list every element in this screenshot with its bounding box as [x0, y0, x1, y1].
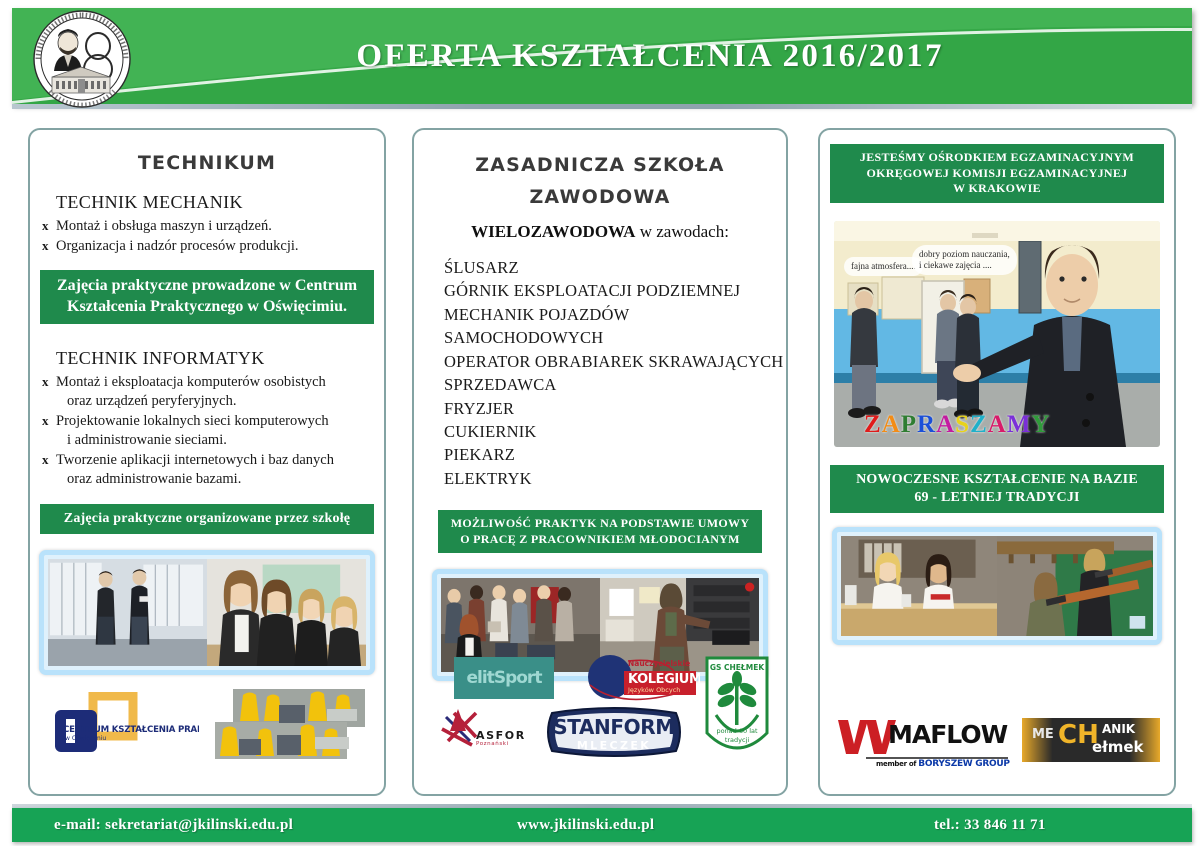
zapraszamy-letter: Y [1031, 411, 1050, 438]
technik-mechanik-bullets: x Montaż i obsługa maszyn i urządzeń. x … [30, 217, 384, 256]
callout-praktyki-line2: O PRACĘ Z PRACOWNIKIEM MŁODOCIANYM [446, 532, 754, 548]
mechanik-chelmek-logo: ME CH ANIK ełmek [1022, 718, 1160, 762]
ckp-logo-subtext: w Oświęcimiu [65, 735, 106, 742]
list-item: SPRZEDAWCA [444, 373, 786, 396]
list-item: x Tworzenie aplikacji internetowych i ba… [30, 451, 384, 489]
photo-shooting-range [997, 536, 1153, 636]
program-technik-mechanik-name: TECHNIK MECHANIK [56, 192, 384, 213]
zsz-subtitle-rest: w zawodach: [635, 222, 728, 241]
list-item: CUKIERNIK [444, 420, 786, 443]
maflow-logo-text: MAFLOW [888, 720, 1007, 749]
list-item: FRYZJER [444, 397, 786, 420]
header-underline [12, 104, 1192, 109]
list-item: PIEKARZ [444, 443, 786, 466]
ckp-logo: CENTRUM KSZTAŁCENIA PRAKTYCZNEGO w Oświę… [49, 692, 199, 756]
bullet-text-cont: oraz urządzeń peryferyjnych. [56, 392, 384, 411]
kolegium-logo-top: Nauczycielskie [628, 659, 690, 668]
callout-praktyki: MOŻLIWOŚĆ PRAKTYK NA PODSTAWIE UMOWY O P… [438, 510, 762, 553]
stanform-logo-sub: MLECZEK [540, 739, 688, 752]
x-marker-icon: x [42, 237, 49, 254]
poster-root: OFERTA KSZTAŁCENIA 2016/2017 [0, 0, 1202, 846]
zapraszamy-letter: S [955, 411, 970, 438]
stanform-logo-text: STANFORM [540, 715, 688, 739]
callout-praktyki-line1: MOŻLIWOŚĆ PRAKTYK NA PODSTAWIE UMOWY [446, 516, 754, 532]
technik-informatyk-bullets: x Montaż i eksploatacja komputerów osobi… [30, 373, 384, 490]
gs-chelmek-logo: GS CHEŁMEK ponad 60 lat tradycji [704, 655, 770, 767]
maflow-logo-sub: member of BORYSZEW GROUP [876, 759, 1010, 769]
elitsport-logo: elitSport [454, 657, 554, 699]
banner-line3: W KRAKOWIE [838, 181, 1156, 197]
footer-phone: tel.: 33 846 11 71 [934, 817, 1046, 834]
list-item: OPERATOR OBRABIAREK SKRAWAJĄCYCH [444, 350, 786, 373]
list-item: x Projektowanie lokalnych sieci komputer… [30, 412, 384, 450]
zsz-subtitle-strong: WIELOZAWODOWA [471, 222, 635, 241]
banner-osrodek-egzaminacyjny: JESTEŚMY OŚRODKIEM EGZAMINACYJNYM OKRĘGO… [830, 144, 1164, 203]
photo-corridor [48, 559, 207, 666]
gs-chelmek-logo-top: GS CHEŁMEK [704, 663, 770, 672]
zapraszamy-letter: R [917, 411, 936, 438]
x-marker-icon: x [42, 373, 49, 390]
page-footer: e-mail: sekretariat@jkilinski.edu.pl www… [12, 808, 1192, 842]
footer-email[interactable]: e-mail: sekretariat@jkilinski.edu.pl [54, 817, 293, 834]
technikum-heading: TECHNIKUM [30, 152, 384, 174]
zsz-heading-line1: ZASADNICZA SZKOŁA [414, 154, 786, 176]
mechanik-part3: ANIK [1102, 722, 1135, 736]
gs-chelmek-logo-sub2: tradycji [704, 736, 770, 744]
x-marker-icon: x [42, 412, 49, 429]
list-item: ŚLUSARZ [444, 256, 786, 279]
callout-ckp-line1: Zajęcia praktyczne prowadzone w Centrum [48, 276, 366, 297]
banner-line1: JESTEŚMY OŚRODKIEM EGZAMINACYJNYM [838, 150, 1156, 166]
column-zasadnicza-szkola: ZASADNICZA SZKOŁA ZAWODOWA WIELOZAWODOWA… [412, 128, 788, 796]
zsz-heading-line2: ZAWODOWA [414, 186, 786, 208]
school-hall-photo: fajna atmosfera.... dobry poziom nauczan… [834, 221, 1160, 447]
banner2-line1: NOWOCZESNE KSZTAŁCENIE NA BAZIE [838, 471, 1156, 489]
stanform-logo: STANFORM MLECZEK [540, 703, 688, 761]
zsz-subtitle: WIELOZAWODOWA w zawodach: [414, 222, 786, 242]
right-partner-logos: MAFLOW member of BORYSZEW GROUP ME CH AN… [832, 712, 1164, 774]
zapraszamy-letter: A [882, 411, 901, 438]
page-header: OFERTA KSZTAŁCENIA 2016/2017 [0, 0, 1202, 112]
maflow-member-of: member of [876, 760, 918, 768]
column-technikum: TECHNIKUM TECHNIK MECHANIK x Montaż i ob… [28, 128, 386, 796]
students-photo-left [39, 550, 375, 675]
footer-website[interactable]: www.jkilinski.edu.pl [517, 817, 654, 834]
bullet-text-cont: oraz administrowanie bazami. [56, 470, 384, 489]
zapraszamy-letter: M [1007, 411, 1032, 438]
bullet-text: Organizacja i nadzór procesów produkcji. [56, 238, 299, 254]
list-item: x Montaż i obsługa maszyn i urządzeń. [30, 217, 384, 236]
asfor-logo: ASFOR Poznański [432, 707, 532, 757]
callout-ckp: Zajęcia praktyczne prowadzone w Centrum … [40, 270, 374, 324]
elitsport-logo-text: elitSport [454, 668, 554, 688]
maflow-logo: MAFLOW member of BORYSZEW GROUP [836, 714, 1011, 770]
bullet-text: Montaż i eksploatacja komputerów osobist… [56, 374, 326, 390]
callout-school-practice: Zajęcia praktyczne organizowane przez sz… [40, 504, 374, 534]
zapraszamy-letter: Z [864, 411, 882, 438]
list-item: GÓRNIK EKSPLOATACJI PODZIEMNEJ [444, 279, 786, 302]
zapraszamy-letter: Z [970, 411, 988, 438]
list-item: x Organizacja i nadzór procesów produkcj… [30, 237, 384, 256]
bullet-text-cont: i administrowanie sieciami. [56, 431, 384, 450]
gs-chelmek-logo-sub1: ponad 60 lat [704, 727, 770, 735]
boryszew-group-text: BORYSZEW GROUP [918, 759, 1009, 769]
school-emblem-icon [30, 9, 134, 109]
bullet-text: Tworzenie aplikacji internetowych i baz … [56, 452, 334, 468]
workshop-photo-collage [215, 689, 365, 759]
x-marker-icon: x [42, 217, 49, 234]
photo-classroom-girls [841, 536, 997, 636]
mechanik-part4: ełmek [1092, 738, 1144, 756]
speech-bubble-2: dobry poziom nauczania, i ciekawe zajęci… [912, 245, 1017, 276]
middle-partner-logos: elitSport Nauczycielskie KOLEGIUM Językó… [432, 655, 772, 773]
bullet-text: Montaż i obsługa maszyn i urządzeń. [56, 218, 272, 234]
list-item: x Montaż i eksploatacja komputerów osobi… [30, 373, 384, 411]
zapraszamy-letter: P [901, 411, 917, 438]
kolegium-logo: Nauczycielskie KOLEGIUM Języków Obcych [582, 655, 700, 707]
zapraszamy-overlay-text: ZAPRASZAMY [864, 411, 1050, 439]
photo-girls-group [207, 559, 366, 666]
left-partner-logos: CENTRUM KSZTAŁCENIA PRAKTYCZNEGO w Oświę… [30, 689, 384, 759]
x-marker-icon: x [42, 451, 49, 468]
students-photo-right [832, 527, 1162, 645]
zapraszamy-letter: A [936, 411, 955, 438]
ckp-logo-text: CENTRUM KSZTAŁCENIA PRAKTYCZNEGO [63, 725, 199, 735]
program-technik-informatyk-name: TECHNIK INFORMATYK [56, 348, 384, 369]
page-title: OFERTA KSZTAŁCENIA 2016/2017 [0, 8, 1180, 104]
column-egzaminy: JESTEŚMY OŚRODKIEM EGZAMINACYJNYM OKRĘGO… [818, 128, 1176, 796]
list-item: MECHANIK POJAZDÓW SAMOCHODOWYCH [444, 303, 786, 350]
kolegium-logo-sub: Języków Obcych [628, 686, 680, 694]
asfor-logo-sub: Poznański [476, 741, 509, 747]
banner2-line2: 69 - LETNIEJ TRADYCJI [838, 489, 1156, 507]
banner-nowoczesne-ksztalcenie: NOWOCZESNE KSZTAŁCENIE NA BAZIE 69 - LET… [830, 465, 1164, 513]
callout-ckp-line2: Kształcenia Praktycznego w Oświęcimiu. [48, 297, 366, 318]
zapraszamy-letter: A [988, 411, 1007, 438]
banner-line2: OKRĘGOWEJ KOMISJI EGZAMINACYJNEJ [838, 166, 1156, 182]
mechanik-part1: ME [1032, 727, 1054, 742]
bullet-text: Projektowanie lokalnych sieci komputerow… [56, 413, 329, 429]
kolegium-logo-main: KOLEGIUM [628, 672, 700, 687]
speech-bubble-2-line2: i ciekawe zajęcia .... [919, 260, 1010, 271]
list-item: ELEKTRYK [444, 467, 786, 490]
job-list: ŚLUSARZ GÓRNIK EKSPLOATACJI PODZIEMNEJ M… [444, 256, 786, 490]
speech-bubble-1: fajna atmosfera.... [844, 257, 923, 276]
speech-bubble-2-line1: dobry poziom nauczania, [919, 249, 1010, 260]
